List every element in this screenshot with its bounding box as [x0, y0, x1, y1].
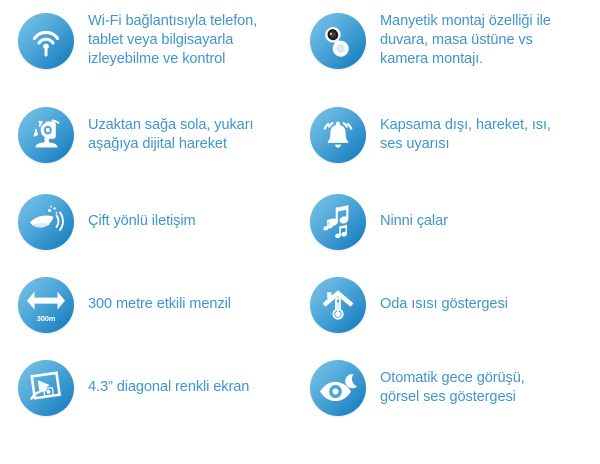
eye-moon-night-vision-icon — [310, 360, 366, 416]
feature-label: Oda ısısı göstergesi — [380, 295, 508, 314]
feature-item-color-screen: 4.3” diagonal renkli ekran — [18, 360, 300, 416]
double-arrow-range-icon: 300m — [18, 277, 74, 333]
feature-label: Wi-Fi bağlantısıyla telefon, tablet veya… — [88, 12, 257, 70]
camera-magnetic-mount-icon — [310, 13, 366, 69]
house-thermometer-icon — [310, 277, 366, 333]
pan-tilt-camera-icon — [18, 107, 74, 163]
feature-item-range: 300m 300 metre etkili menzil — [18, 277, 300, 333]
music-notes-icon — [310, 194, 366, 250]
feature-item-remote-pan-tilt: Uzaktan sağa sola, yukarı aşağıya dijita… — [18, 107, 300, 163]
feature-item-alerts: Kapsama dışı, hareket, ısı, ses uyarısı — [310, 107, 595, 163]
feature-label: Kapsama dışı, hareket, ısı, ses uyarısı — [380, 116, 551, 154]
feature-label: Ninni çalar — [380, 212, 448, 231]
feature-label: 4.3” diagonal renkli ekran — [88, 378, 249, 397]
feature-label: 300 metre etkili menzil — [88, 295, 231, 314]
screen-display-icon — [18, 360, 74, 416]
range-badge-label: 300m — [18, 314, 74, 323]
feature-label: Çift yönlü iletişim — [88, 212, 196, 231]
talking-mouth-icon — [18, 194, 74, 250]
feature-item-room-temperature: Oda ısısı göstergesi — [310, 277, 595, 333]
feature-item-magnetic-mount: Manyetik montaj özelliği ile duvara, mas… — [310, 12, 595, 70]
alarm-bell-icon — [310, 107, 366, 163]
feature-list: Wi-Fi bağlantısıyla telefon, tablet veya… — [0, 0, 600, 464]
feature-label: Manyetik montaj özelliği ile duvara, mas… — [380, 12, 551, 70]
feature-item-two-way-audio: Çift yönlü iletişim — [18, 194, 300, 250]
feature-item-lullaby: Ninni çalar — [310, 194, 595, 250]
feature-item-night-vision: Otomatik gece görüşü, görsel ses gösterg… — [310, 360, 595, 416]
feature-item-wifi-monitoring: Wi-Fi bağlantısıyla telefon, tablet veya… — [18, 12, 300, 70]
feature-label: Uzaktan sağa sola, yukarı aşağıya dijita… — [88, 116, 253, 154]
wifi-signal-icon — [18, 13, 74, 69]
feature-label: Otomatik gece görüşü, görsel ses gösterg… — [380, 369, 525, 407]
